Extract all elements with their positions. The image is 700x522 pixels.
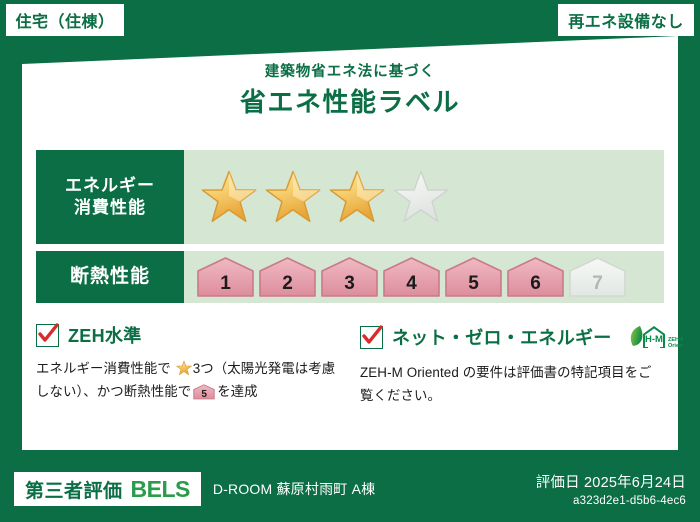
insulation-performance-label-box: 断熱性能: [36, 251, 184, 303]
energy-label-line1: エネルギー: [65, 175, 155, 197]
bels-label-en: BELS: [131, 476, 190, 503]
insulation-grade-7-number: 7: [592, 274, 603, 298]
insulation-grade-inline-badge: 5: [193, 384, 215, 401]
zeh-text-part1: エネルギー消費性能で: [36, 361, 171, 376]
star-rating-track: [184, 150, 664, 244]
criteria-zeh-level-header: ZEH水準: [36, 322, 340, 348]
star-icon-filled-1: [200, 168, 258, 226]
heading-block: 建築物省エネ法に基づく 省エネ性能ラベル: [22, 64, 678, 118]
label-subtitle: 建築物省エネ法に基づく: [22, 64, 678, 81]
star-icon-inline: [176, 360, 192, 376]
insulation-grade-4: 4: [382, 256, 441, 298]
energy-performance-row: エネルギー 消費性能: [36, 150, 664, 244]
energy-label-line2: 消費性能: [74, 197, 146, 219]
insulation-grade-inline-number: 5: [193, 384, 215, 401]
insulation-grade-2: 2: [258, 256, 317, 298]
insulation-performance-row: 断熱性能 1: [36, 251, 664, 303]
bels-label-jp: 第三者評価: [25, 476, 123, 503]
criteria-net-zero-energy-title: ネット・ゼロ・エネルギー: [392, 324, 612, 350]
bels-certification-box: 第三者評価 BELS: [14, 472, 201, 506]
zeh-text-part3: を達成: [217, 384, 257, 399]
criteria-zeh-level-title: ZEH水準: [68, 322, 142, 348]
insulation-grade-7: 7: [568, 256, 627, 298]
energy-performance-label-box: エネルギー 消費性能: [36, 150, 184, 244]
page-title: 省エネ性能ラベル: [22, 88, 678, 118]
insulation-grade-track: 1 2 3 4: [184, 251, 664, 303]
insulation-grade-2-number: 2: [282, 274, 293, 298]
insulation-label: 断熱性能: [70, 265, 150, 289]
star-icon-filled-3: [328, 168, 386, 226]
insulation-grade-1: 1: [196, 256, 255, 298]
svg-text:ZEH-M: ZEH-M: [668, 337, 683, 343]
footer-bar: 第三者評価 BELS D-ROOM 蘇原村雨町 A棟 評価日 2025年6月24…: [0, 456, 700, 522]
zeh-m-oriented-logo-icon: H-M ZEH-M Oriented: [625, 322, 683, 352]
evaluation-date: 評価日 2025年6月24日: [536, 471, 686, 492]
criteria-zeh-level: ZEH水準 エネルギー消費性能で 3つ（太陽光発電は考慮しない）、かつ断熱性能で…: [36, 322, 340, 407]
checkbox-checked-icon: [360, 326, 383, 349]
criteria-net-zero-energy: ネット・ゼロ・エネルギー H-: [360, 322, 664, 407]
criteria-zeh-level-text: エネルギー消費性能で 3つ（太陽光発電は考慮しない）、かつ断熱性能で 5 を達成: [36, 357, 340, 403]
insulation-grade-5: 5: [444, 256, 503, 298]
checkbox-checked-icon: [36, 324, 59, 347]
insulation-grade-5-number: 5: [468, 274, 479, 298]
energy-performance-label: 住宅（住棟） 再エネ設備なし 建築物省エネ法に基づく 省エネ性能ラベル エネルギ…: [0, 0, 700, 522]
evaluation-id: a323d2e1-d5b6-4ec6: [536, 495, 686, 507]
evaluation-info: 評価日 2025年6月24日 a323d2e1-d5b6-4ec6: [536, 471, 686, 507]
svg-text:H-M: H-M: [645, 334, 663, 345]
panel-content: 建築物省エネ法に基づく 省エネ性能ラベル エネルギー 消費性能: [22, 36, 678, 450]
insulation-grade-1-number: 1: [220, 274, 231, 298]
property-name: D-ROOM 蘇原村雨町 A棟: [213, 479, 375, 499]
insulation-grade-3-number: 3: [344, 274, 355, 298]
badge-renewable-energy: 再エネ設備なし: [558, 4, 694, 36]
insulation-grade-3: 3: [320, 256, 379, 298]
criteria-net-zero-energy-header: ネット・ゼロ・エネルギー H-: [360, 322, 664, 352]
svg-text:Oriented: Oriented: [668, 343, 683, 349]
insulation-grade-6-number: 6: [530, 274, 541, 298]
insulation-grade-4-number: 4: [406, 274, 417, 298]
criteria-section: ZEH水準 エネルギー消費性能で 3つ（太陽光発電は考慮しない）、かつ断熱性能で…: [36, 322, 664, 407]
star-icon-filled-2: [264, 168, 322, 226]
insulation-grade-6: 6: [506, 256, 565, 298]
star-icon-empty-4: [392, 168, 450, 226]
badge-building-type: 住宅（住棟）: [6, 4, 124, 36]
criteria-net-zero-energy-text: ZEH-M Oriented の要件は評価書の特記項目をご覧ください。: [360, 361, 664, 407]
